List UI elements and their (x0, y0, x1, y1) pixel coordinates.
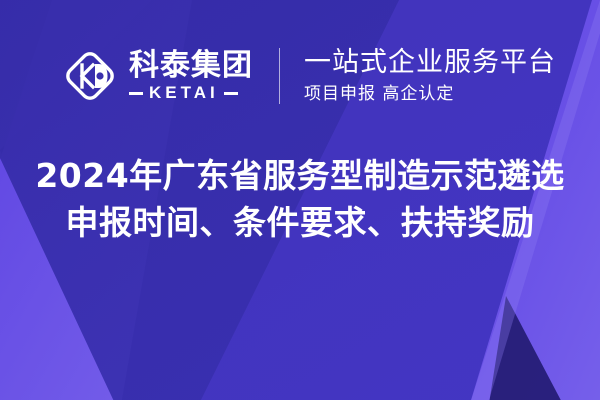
banner-headline: 2024年广东省服务型制造示范遴选 申报时间、条件要求、扶持奖励 (0, 152, 600, 246)
brand-logo: 科泰集团 KETAI (62, 48, 253, 104)
brand-wordmark: 科泰集团 KETAI (129, 50, 253, 102)
wordmark-rule-right (224, 92, 238, 95)
ketai-diamond-logo-icon (62, 48, 118, 104)
header-divider (279, 48, 280, 104)
brand-name-en-row: KETAI (129, 84, 253, 102)
brand-name-en: KETAI (143, 84, 224, 102)
banner-header: 科泰集团 KETAI 一站式企业服务平台 项目申报 高企认定 (0, 34, 600, 118)
header-tagline: 一站式企业服务平台 项目申报 高企认定 (304, 47, 556, 105)
tagline-secondary: 项目申报 高企认定 (304, 83, 556, 105)
headline-line-2: 申报时间、条件要求、扶持奖励 (0, 199, 600, 246)
brand-name-cn: 科泰集团 (129, 50, 253, 82)
headline-line-1: 2024年广东省服务型制造示范遴选 (0, 152, 600, 199)
tagline-primary: 一站式企业服务平台 (304, 47, 556, 79)
wordmark-rule-left (129, 92, 143, 95)
promo-banner: 科泰集团 KETAI 一站式企业服务平台 项目申报 高企认定 2024年广东省服… (0, 0, 600, 400)
